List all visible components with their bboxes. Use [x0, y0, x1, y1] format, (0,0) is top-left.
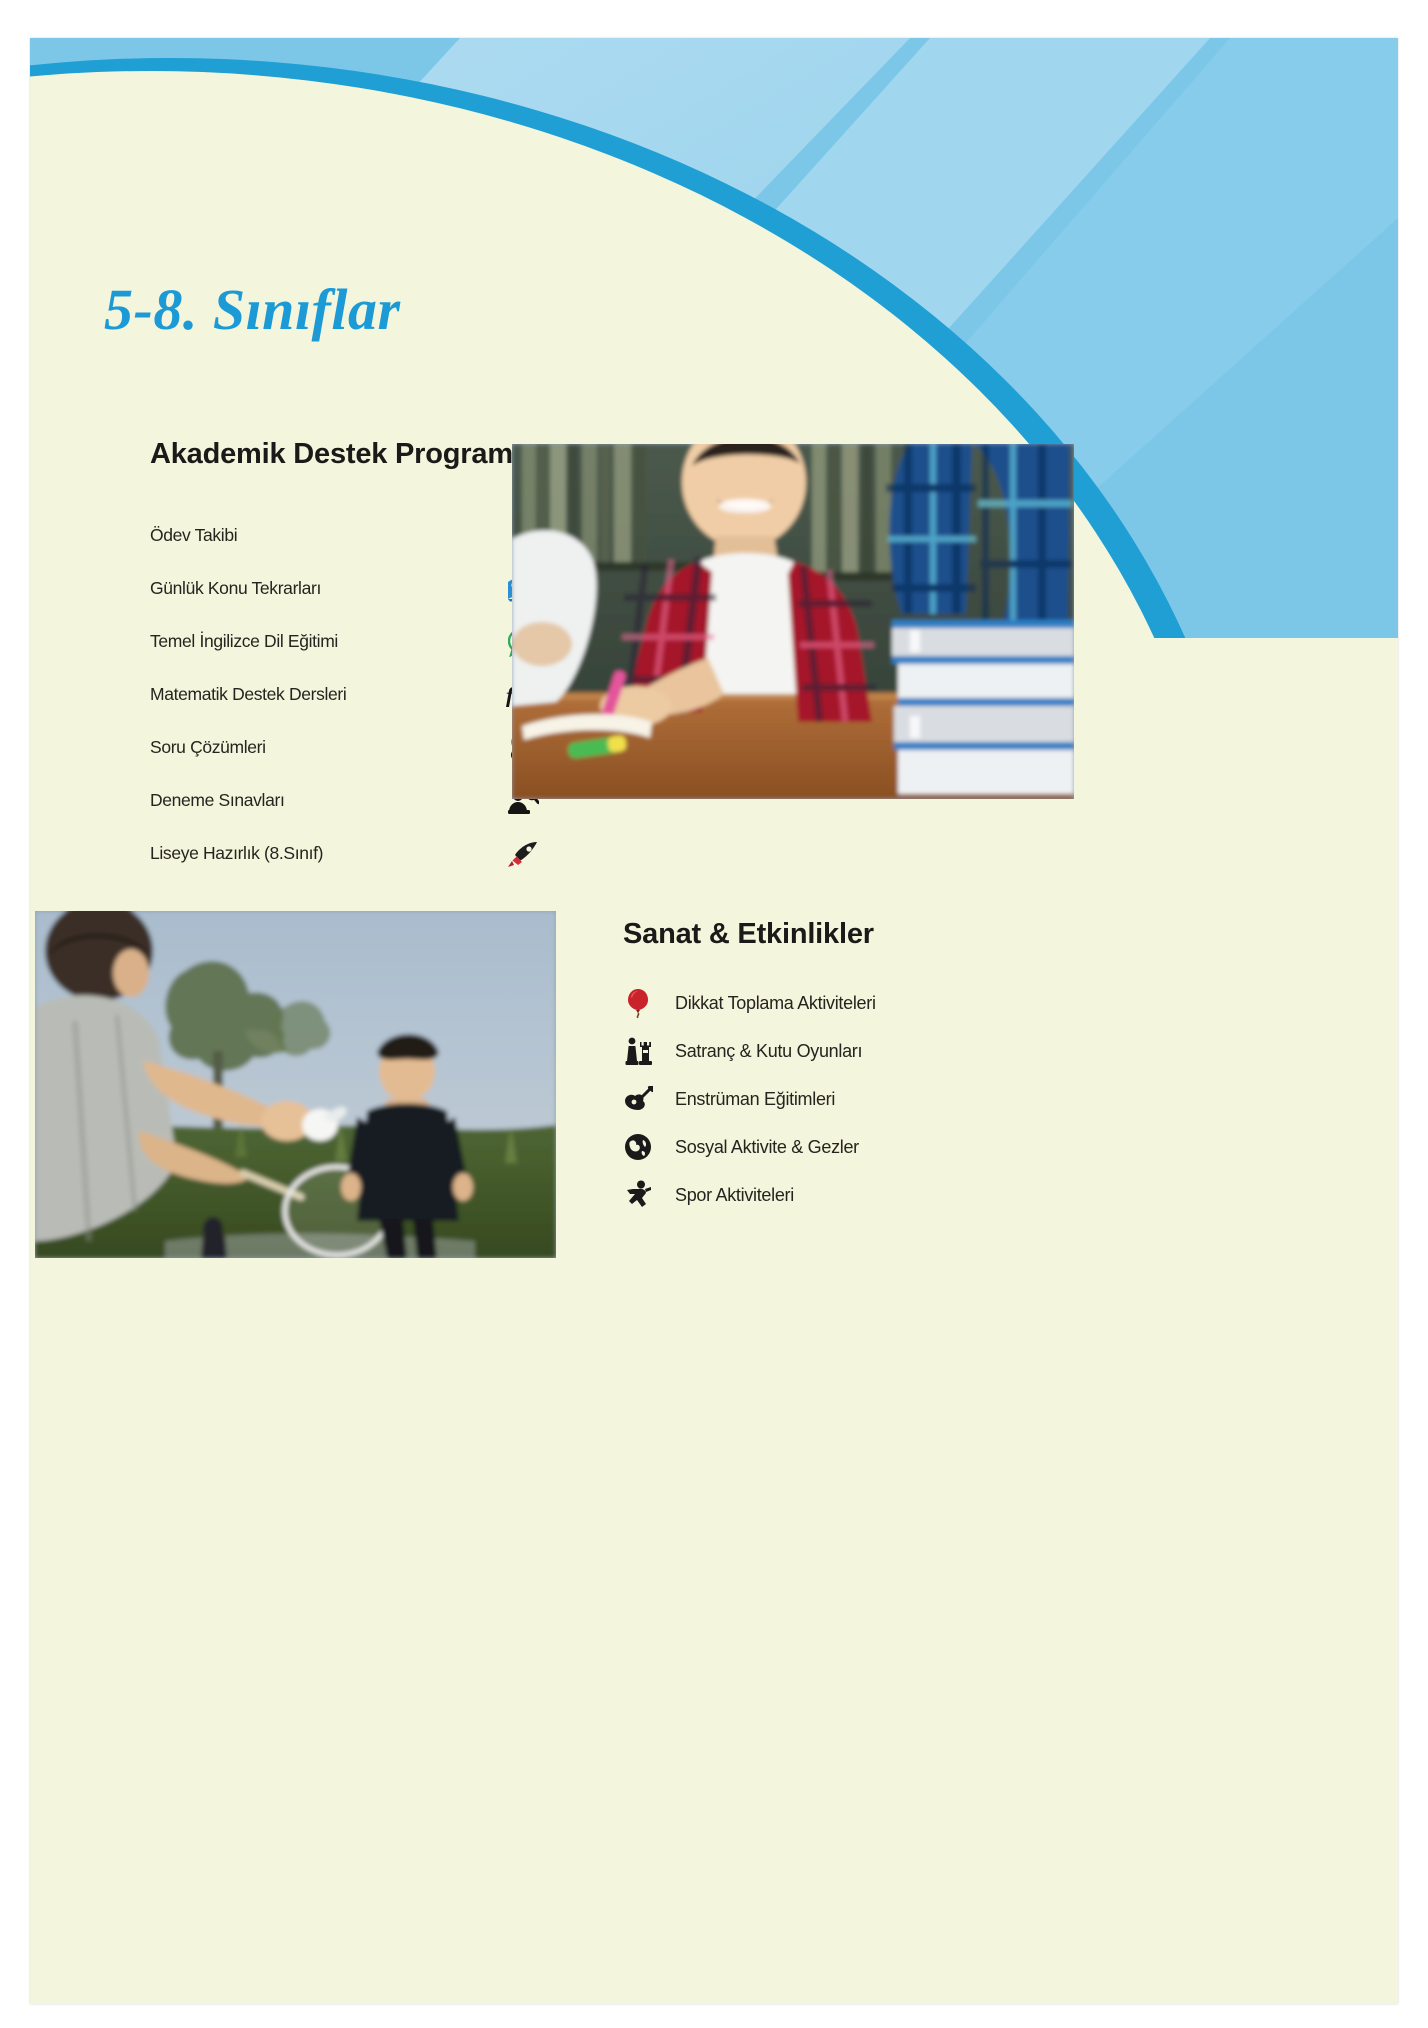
arts-item-label: Enstrüman Eğitimleri: [675, 1089, 835, 1110]
list-item: Deneme Sınavları: [150, 774, 540, 827]
academic-item-label: Ödev Takibi: [150, 525, 237, 546]
list-item: Satranç & Kutu Oyunları: [623, 1027, 1043, 1075]
list-item: Soru Çözümleri: [150, 721, 540, 774]
academic-support-section: Akademik Destek Programı Ödev Takibi: [150, 438, 540, 880]
globe-icon: [623, 1132, 653, 1162]
brochure-page: 5-8. Sınıflar Akademik Destek Programı Ö…: [30, 38, 1398, 2004]
arts-item-label: Satranç & Kutu Oyunları: [675, 1041, 862, 1062]
academic-section-heading: Akademik Destek Programı: [150, 438, 540, 471]
rocket-icon: [506, 837, 540, 871]
list-item: Günlük Konu Tekrarları: [150, 562, 540, 615]
academic-item-label: Liseye Hazırlık (8.Sınıf): [150, 843, 323, 864]
arts-item-label: Spor Aktiviteleri: [675, 1185, 794, 1206]
list-item: Sosyal Aktivite & Gezler: [623, 1123, 1043, 1171]
document-page-screen: 5-8. Sınıflar Akademik Destek Programı Ö…: [0, 0, 1428, 2028]
chess-icon: [623, 1036, 653, 1066]
list-item: Dikkat Toplama Aktiviteleri: [623, 979, 1043, 1027]
arts-items-list: Dikkat Toplama Aktiviteleri: [623, 979, 1043, 1219]
academic-item-label: Deneme Sınavları: [150, 790, 284, 811]
list-item: Liseye Hazırlık (8.Sınıf): [150, 827, 540, 880]
arts-section-heading: Sanat & Etkinlikler: [623, 918, 1043, 951]
academic-item-label: Temel İngilizce Dil Eğitimi: [150, 631, 338, 652]
arts-activities-section: Sanat & Etkinlikler Dikkat Toplama Aktiv…: [623, 918, 1043, 1219]
academic-item-label: Soru Çözümleri: [150, 737, 266, 758]
academic-item-label: Günlük Konu Tekrarları: [150, 578, 321, 599]
badminton-sport-photo: [35, 911, 556, 1258]
list-item: Enstrüman Eğitimleri: [623, 1075, 1043, 1123]
library-study-photo: [512, 444, 1074, 799]
page-title: 5-8. Sınıflar: [104, 276, 401, 343]
list-item: Matematik Destek Dersleri f x: [150, 668, 540, 721]
academic-items-list: Ödev Takibi Günlük Konu Tekrarları: [150, 509, 540, 880]
running-person-icon: [623, 1180, 653, 1210]
arts-item-label: Dikkat Toplama Aktiviteleri: [675, 993, 876, 1014]
list-item: Temel İngilizce Dil Eğitimi Aa: [150, 615, 540, 668]
academic-item-label: Matematik Destek Dersleri: [150, 684, 346, 705]
balloon-icon: [623, 988, 653, 1018]
guitar-icon: [623, 1084, 653, 1114]
list-item: Spor Aktiviteleri: [623, 1171, 1043, 1219]
arts-item-label: Sosyal Aktivite & Gezler: [675, 1137, 859, 1158]
list-item: Ödev Takibi: [150, 509, 540, 562]
